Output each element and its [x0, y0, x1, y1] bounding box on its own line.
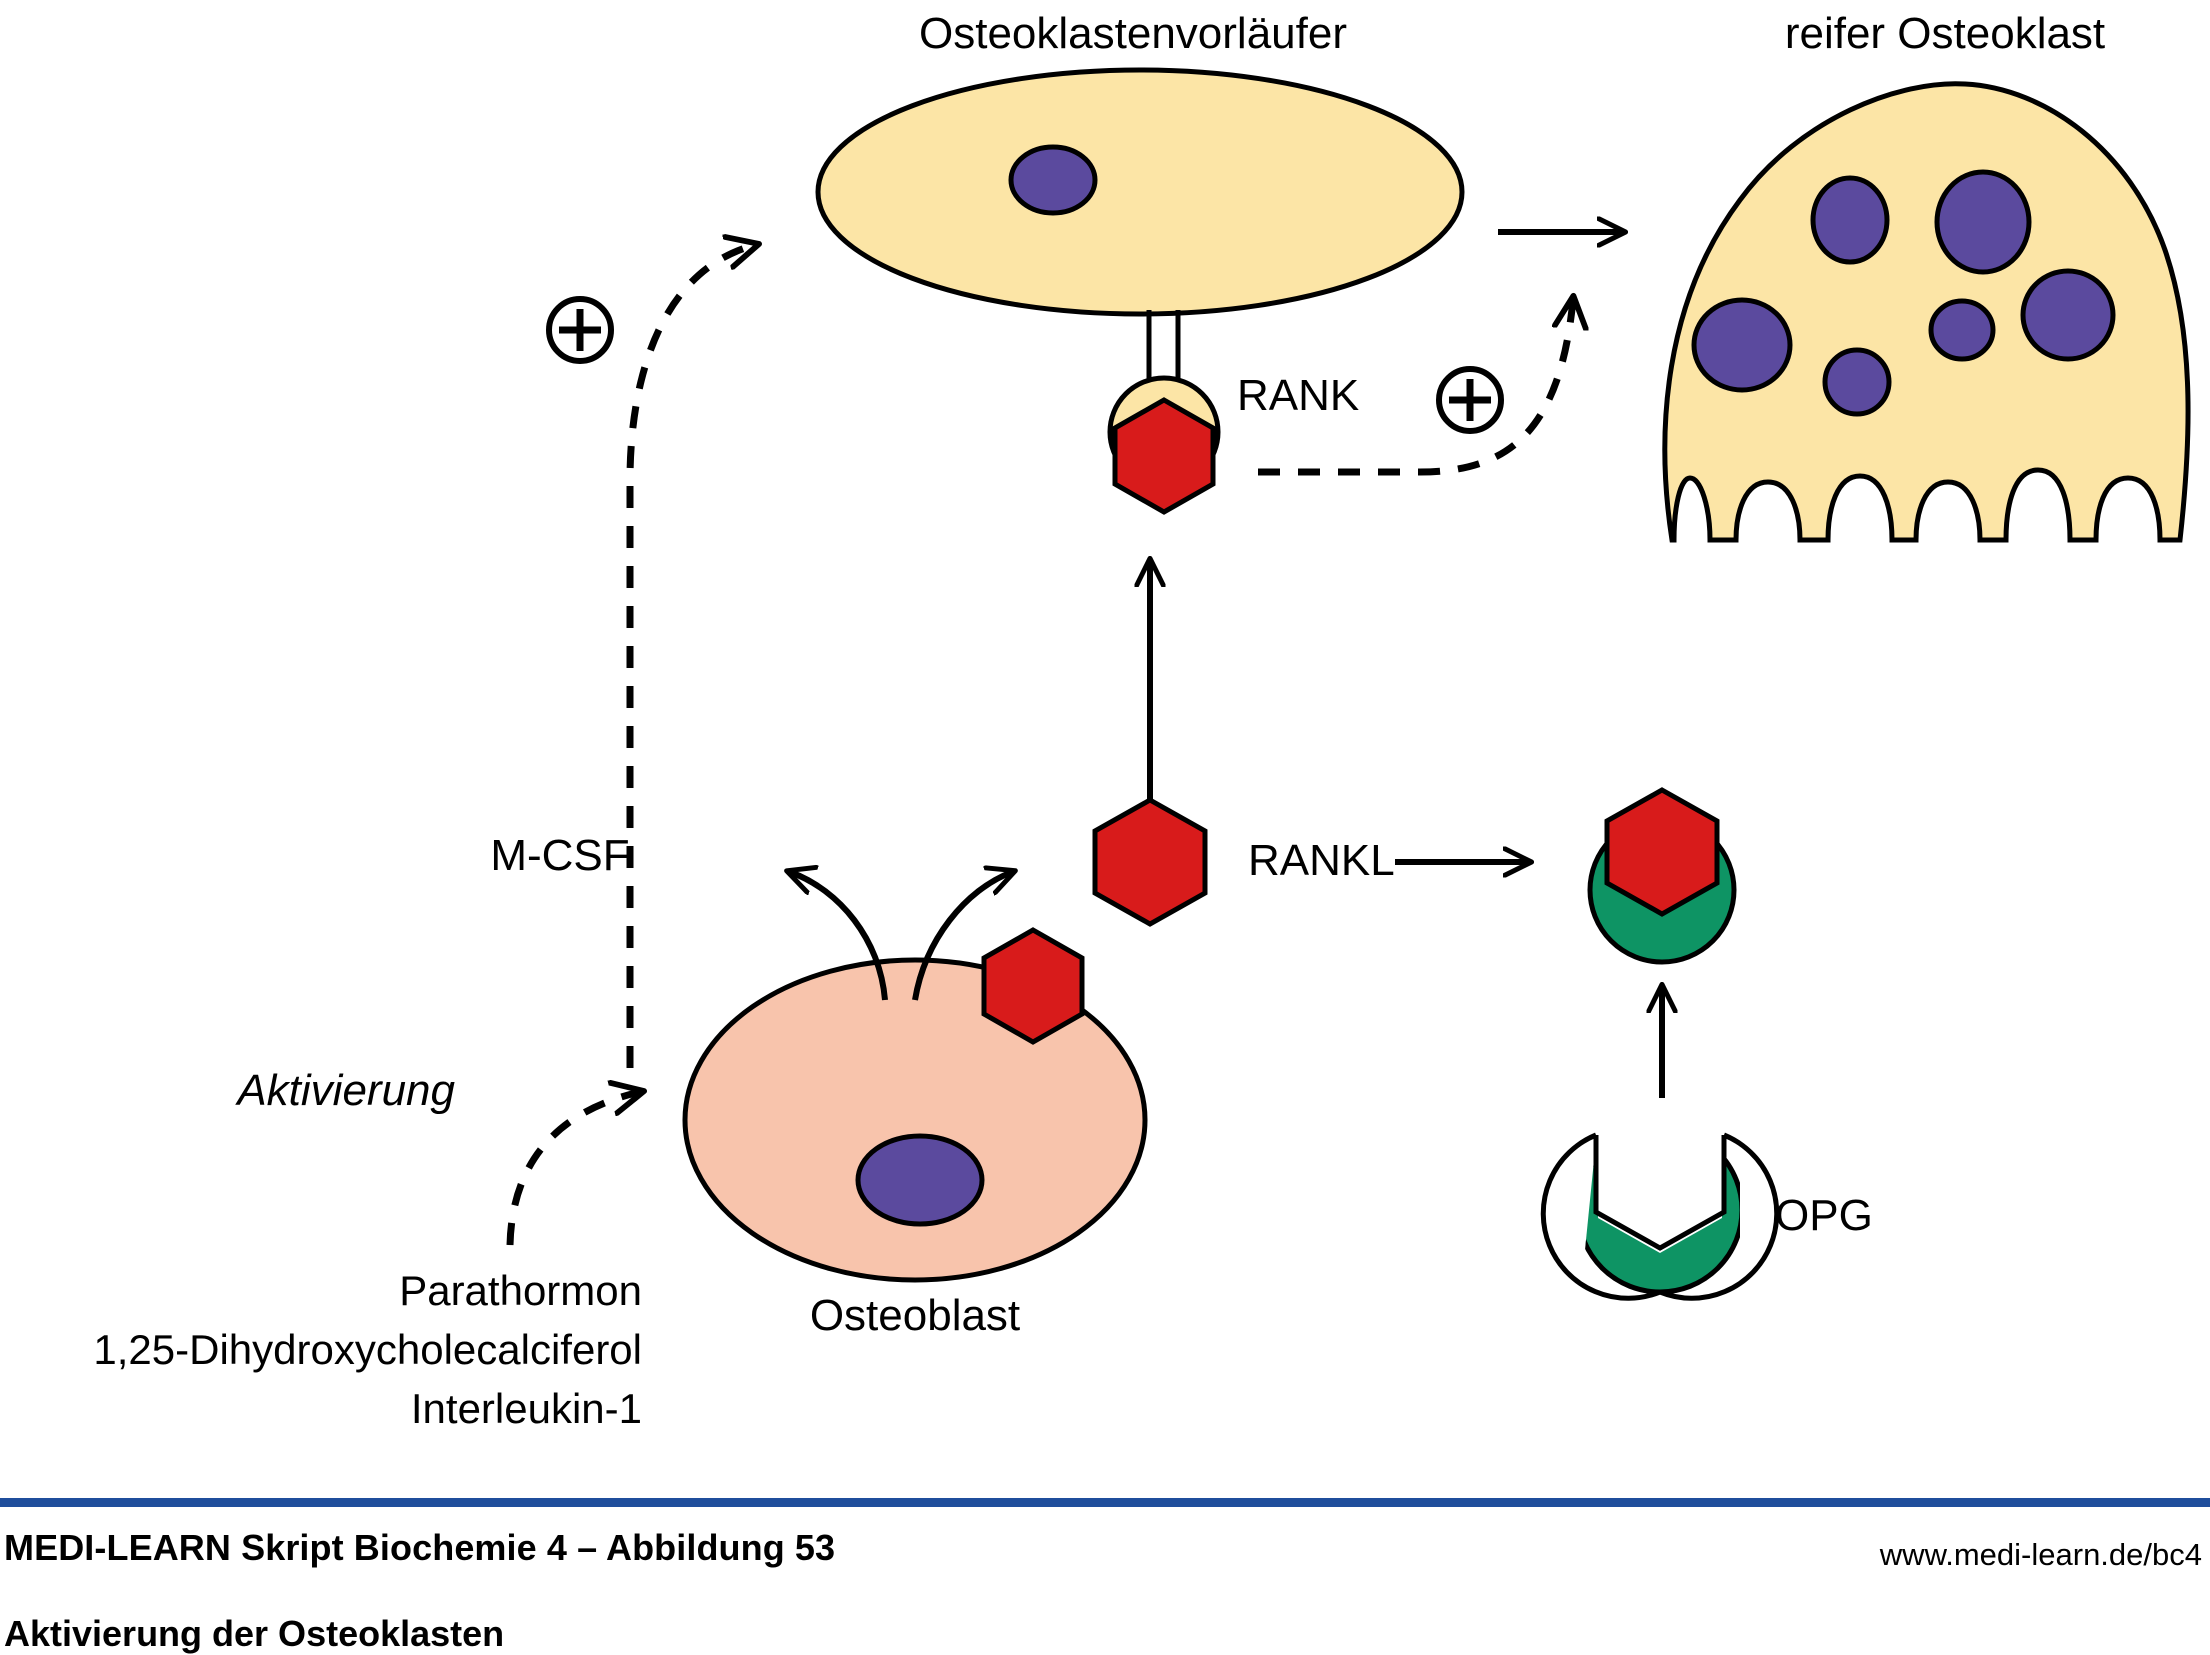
precursor-cell-body [818, 70, 1462, 314]
osteoclast-nucleus [2023, 271, 2113, 359]
label-rank: RANK [1237, 371, 1359, 420]
stimulus-parathormon: Parathormon [399, 1267, 642, 1314]
label-reifer-osteoklast: reifer Osteoklast [1785, 9, 2105, 58]
opg-disc [1578, 1128, 1742, 1292]
arrow-stimuli-to-osteoblast-dashed [510, 1092, 640, 1245]
osteoclast-nucleus [1694, 300, 1790, 390]
label-rankl: RANKL [1248, 836, 1395, 885]
plus-circle-mcsf-activation [549, 299, 611, 361]
osteoblast-nucleus [858, 1136, 982, 1224]
footer-left: MEDI-LEARN Skript Biochemie 4 – Abbildun… [4, 1527, 835, 1655]
opg-rankl-complex[interactable] [1590, 790, 1734, 962]
rankl-free-ligand[interactable] [1095, 800, 1205, 924]
plus-circle-rank-activation [1439, 369, 1501, 431]
footer-source-line: MEDI-LEARN Skript Biochemie 4 – Abbildun… [4, 1527, 835, 1569]
figure-page: Osteoklastenvorläufer reifer Osteoklast … [0, 0, 2210, 1635]
osteoclast-nucleus [1937, 172, 2029, 272]
stimulus-interleukin-1: Interleukin-1 [411, 1385, 642, 1432]
stimulus-dihydroxycholecalciferol: 1,25-Dihydroxycholecalciferol [93, 1326, 642, 1373]
osteoclast-nucleus [1825, 350, 1889, 414]
diagram-canvas: Osteoklastenvorläufer reifer Osteoklast … [0, 0, 2210, 1635]
label-osteoblast: Osteoblast [810, 1291, 1020, 1340]
label-opg: OPG [1775, 1191, 1873, 1240]
arrow-mcsf-to-precursor-dashed [630, 245, 755, 1068]
rankl-bound-to-rank [1115, 400, 1213, 512]
cell-reifer-osteoklast[interactable] [1665, 84, 2188, 540]
label-aktivierung: Aktivierung [234, 1066, 455, 1115]
footer-rule [0, 1498, 2210, 1507]
rank-receptor[interactable]: RANK [1110, 310, 1359, 512]
footer-url[interactable]: www.medi-learn.de/bc4 [1880, 1537, 2202, 1573]
precursor-nucleus [1011, 147, 1095, 213]
footer-caption: Aktivierung der Osteoklasten [4, 1613, 835, 1655]
osteoclast-nucleus [1813, 178, 1887, 262]
cell-osteoklastenvorlaeufer[interactable] [818, 70, 1462, 314]
page-footer: MEDI-LEARN Skript Biochemie 4 – Abbildun… [0, 1498, 2210, 1635]
label-mcsf: M-CSF [490, 831, 629, 880]
rankl-membrane-bound [984, 930, 1082, 1042]
label-osteoklastenvorlaeufer: Osteoklastenvorläufer [919, 9, 1347, 58]
opg-free-molecule[interactable] [1543, 1128, 1776, 1298]
osteoclast-nucleus [1931, 301, 1993, 359]
